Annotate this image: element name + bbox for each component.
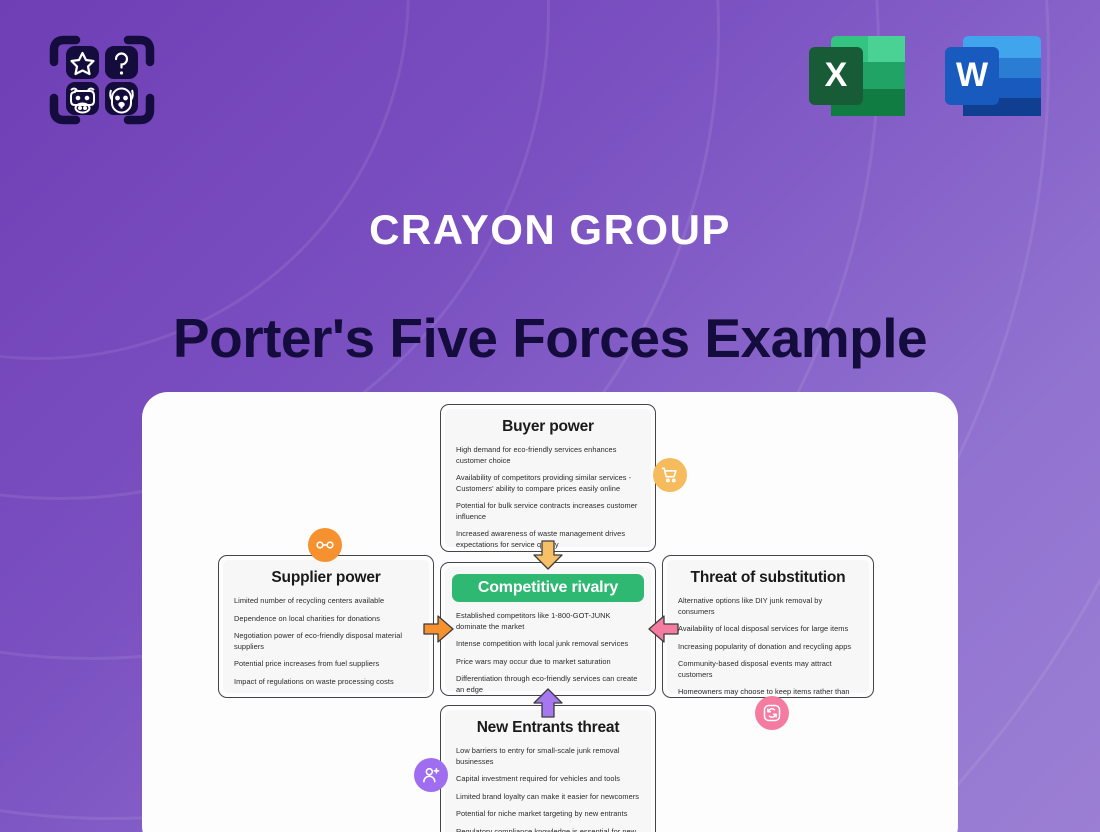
force-box-buyer[interactable]: Buyer power High demand for eco-friendly…: [440, 404, 656, 552]
brand-name: CRAYON GROUP: [0, 206, 1100, 254]
force-list-buyer: High demand for eco-friendly services en…: [456, 445, 640, 550]
office-app-icons: X W: [805, 28, 1045, 124]
list-item: Negotiation power of eco-friendly dispos…: [234, 631, 418, 652]
force-list-rivalry: Established competitors like 1-800-GOT-J…: [456, 611, 640, 696]
list-item: Low barriers to entry for small-scale ju…: [456, 746, 640, 767]
shopping-cart-icon: [660, 465, 680, 485]
list-item: Community-based disposal events may attr…: [678, 659, 858, 680]
list-item: Regulatory compliance knowledge is essen…: [456, 827, 640, 832]
list-item: Increasing popularity of donation and re…: [678, 642, 858, 653]
swap-refresh-icon: [762, 703, 782, 723]
force-list-substitution: Alternative options like DIY junk remova…: [678, 596, 858, 698]
supply-link-icon: [315, 535, 335, 555]
list-item: Limited brand loyalty can make it easier…: [456, 792, 640, 803]
badge-substitution[interactable]: [755, 696, 789, 730]
force-box-substitution[interactable]: Threat of substitution Alternative optio…: [662, 555, 874, 698]
microsoft-word-icon: W: [941, 28, 1045, 124]
list-item: Intense competition with local junk remo…: [456, 639, 640, 650]
force-title-substitution: Threat of substitution: [678, 569, 858, 587]
svg-text:W: W: [956, 56, 989, 94]
list-item: Availability of competitors providing si…: [456, 473, 640, 494]
diagram-card: Buyer power High demand for eco-friendly…: [142, 392, 958, 832]
badge-entrants[interactable]: [414, 758, 448, 792]
list-item: Potential for bulk service contracts inc…: [456, 501, 640, 522]
list-item: Alternative options like DIY junk remova…: [678, 596, 858, 617]
list-item: Potential price increases from fuel supp…: [234, 659, 418, 670]
arrow-up-entrants: [532, 688, 564, 723]
list-item: Dependence on local charities for donati…: [234, 614, 418, 625]
list-item: Price wars may occur due to market satur…: [456, 657, 640, 668]
force-title-supplier: Supplier power: [234, 569, 418, 587]
force-title-rivalry: Competitive rivalry: [452, 574, 644, 602]
brand-logo: [46, 28, 158, 132]
force-title-buyer: Buyer power: [456, 418, 640, 436]
list-item: Established competitors like 1-800-GOT-J…: [456, 611, 640, 632]
list-item: Limited number of recycling centers avai…: [234, 596, 418, 607]
page-title: Porter's Five Forces Example: [0, 306, 1100, 370]
arrow-down-buyer: [532, 540, 564, 575]
force-box-rivalry[interactable]: Competitive rivalry Established competit…: [440, 562, 656, 696]
porters-five-forces-diagram: Buyer power High demand for eco-friendly…: [142, 392, 958, 832]
list-item: Potential for niche market targeting by …: [456, 809, 640, 820]
force-list-supplier: Limited number of recycling centers avai…: [234, 596, 418, 687]
add-user-icon: [421, 765, 441, 785]
arrow-right-supplier: [423, 614, 455, 649]
microsoft-excel-icon: X: [805, 28, 909, 124]
badge-supplier[interactable]: [308, 528, 342, 562]
list-item: Impact of regulations on waste processin…: [234, 677, 418, 688]
slide-canvas: X W CRAYON GROUP Porter's Five Forces Ex…: [0, 0, 1100, 832]
title-group: CRAYON GROUP Porter's Five Forces Exampl…: [0, 206, 1100, 370]
arrow-left-substitution: [647, 614, 679, 649]
list-item: Availability of local disposal services …: [678, 624, 858, 635]
list-item: Capital investment required for vehicles…: [456, 774, 640, 785]
force-box-entrants[interactable]: New Entrants threat Low barriers to entr…: [440, 705, 656, 832]
badge-buyer[interactable]: [653, 458, 687, 492]
svg-text:X: X: [825, 56, 848, 94]
list-item: High demand for eco-friendly services en…: [456, 445, 640, 466]
force-box-supplier[interactable]: Supplier power Limited number of recycli…: [218, 555, 434, 698]
force-list-entrants: Low barriers to entry for small-scale ju…: [456, 746, 640, 832]
